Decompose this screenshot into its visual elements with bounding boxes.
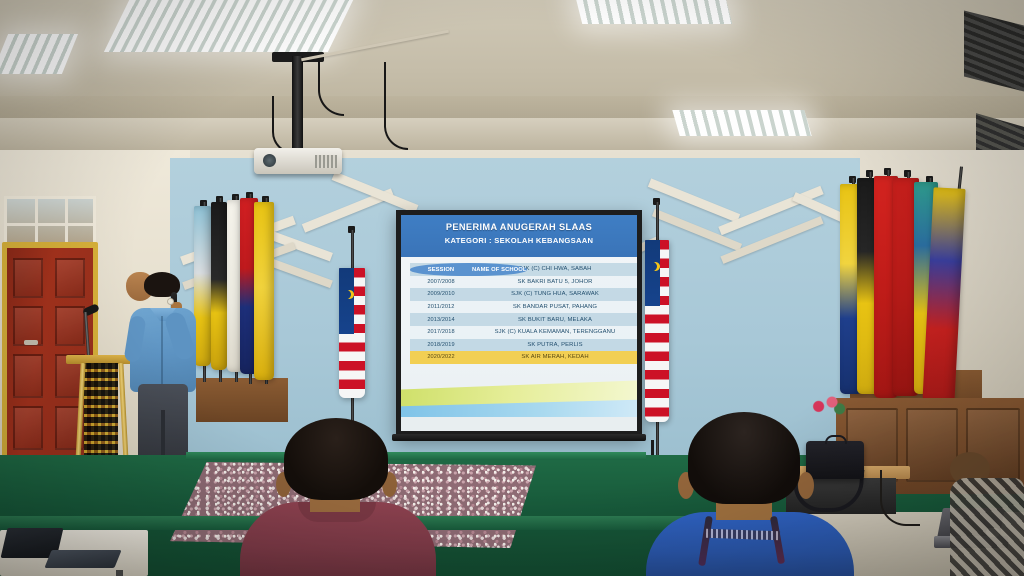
table-row: 2011/2012SK BANDAR PUSAT, PAHANG (410, 301, 637, 314)
cell-session: 2020/2022 (410, 354, 472, 360)
ceiling-light-fixture (104, 0, 356, 52)
name-badge (167, 298, 174, 305)
cell-school: SJK (C) TUNG HUA, SARAWAK (472, 291, 637, 297)
hanging-cable (384, 62, 408, 150)
cell-school: SJK (C) KUALA KEMAMAN, TERENGGANU (472, 329, 637, 335)
projector-vent (315, 155, 337, 168)
presentation-slide: PENERIMA ANUGERAH SLAAS KATEGORI : SEKOL… (401, 215, 637, 431)
cell-session: 2017/2018 (410, 329, 472, 335)
presenter-trousers (138, 384, 188, 460)
table-row: 2017/2018SJK (C) KUALA KEMAMAN, TERENGGA… (410, 326, 637, 339)
table-row: 2018/2019SK PUTRA, PERLIS (410, 339, 637, 352)
cell-school: SK BUKIT BARU, MELAKA (472, 317, 637, 323)
cell-session: 2018/2019 (410, 342, 472, 348)
presentation-hall-photo: PENERIMA ANUGERAH SLAAS KATEGORI : SEKOL… (0, 0, 1024, 576)
table-row: 2009/2010SJK (C) TUNG HUA, SARAWAK (410, 288, 637, 301)
person-torso (950, 478, 1024, 576)
table-row: 2020/2022SK AIR MERAH, KEDAH (410, 351, 637, 364)
cell-school: SK BAKRI BATU 5, JOHOR (472, 279, 637, 285)
cell-school: SK BANDAR PUSAT, PAHANG (472, 304, 637, 310)
slide-title: PENERIMA ANUGERAH SLAAS (401, 215, 637, 232)
door-handle[interactable] (24, 340, 38, 345)
malaysia-flag (339, 268, 365, 398)
projector-lens (263, 154, 276, 167)
award-recipients-table: SESSIONNAME OF SCHOOL2005/2006SJK (C) CH… (410, 263, 637, 364)
shirt-placket (161, 316, 163, 388)
cell-school: SK AIR MERAH, KEDAH (472, 354, 637, 360)
audience-torso (646, 512, 854, 576)
column-header-school: NAME OF SCHOOL (472, 267, 527, 273)
ceiling-light-fixture (672, 110, 811, 136)
podium-batik-panel (84, 363, 118, 463)
flag-stand-left (196, 378, 288, 422)
cell-session: 2013/2014 (410, 317, 472, 323)
table-row: 2007/2008SK BAKRI BATU 5, JOHOR (410, 276, 637, 289)
audience-hair (284, 418, 388, 500)
ceiling-light-fixture (574, 0, 732, 24)
audience-member-maroon (236, 418, 436, 576)
table-row: 2013/2014SK BUKIT BARU, MELAKA (410, 313, 637, 326)
equipment-cables (880, 470, 920, 526)
audience-member-blue (646, 412, 854, 576)
projection-screen: PENERIMA ANUGERAH SLAAS KATEGORI : SEKOL… (396, 210, 642, 436)
malaysia-flag (645, 240, 669, 422)
table-header-row: SESSIONNAME OF SCHOOL (410, 263, 527, 276)
audience-ear (798, 472, 814, 499)
cell-session: 2011/2012 (410, 304, 472, 310)
seated-person-right (950, 452, 1024, 576)
ceiling-projector (254, 148, 342, 174)
slide-subtitle: KATEGORI : SEKOLAH KEBANGSAAN (401, 232, 637, 245)
cell-school: SK PUTRA, PERLIS (472, 342, 637, 348)
slide-header: PENERIMA ANUGERAH SLAAS KATEGORI : SEKOL… (401, 215, 637, 257)
cell-session: 2009/2010 (410, 291, 472, 297)
column-header-session: SESSION (410, 267, 472, 273)
tablet-device[interactable] (44, 550, 121, 568)
slide-decoration-base (401, 417, 637, 431)
presenter (126, 272, 204, 477)
audience-hair (688, 412, 800, 504)
transom-window (4, 196, 96, 248)
cell-session: 2007/2008 (410, 279, 472, 285)
